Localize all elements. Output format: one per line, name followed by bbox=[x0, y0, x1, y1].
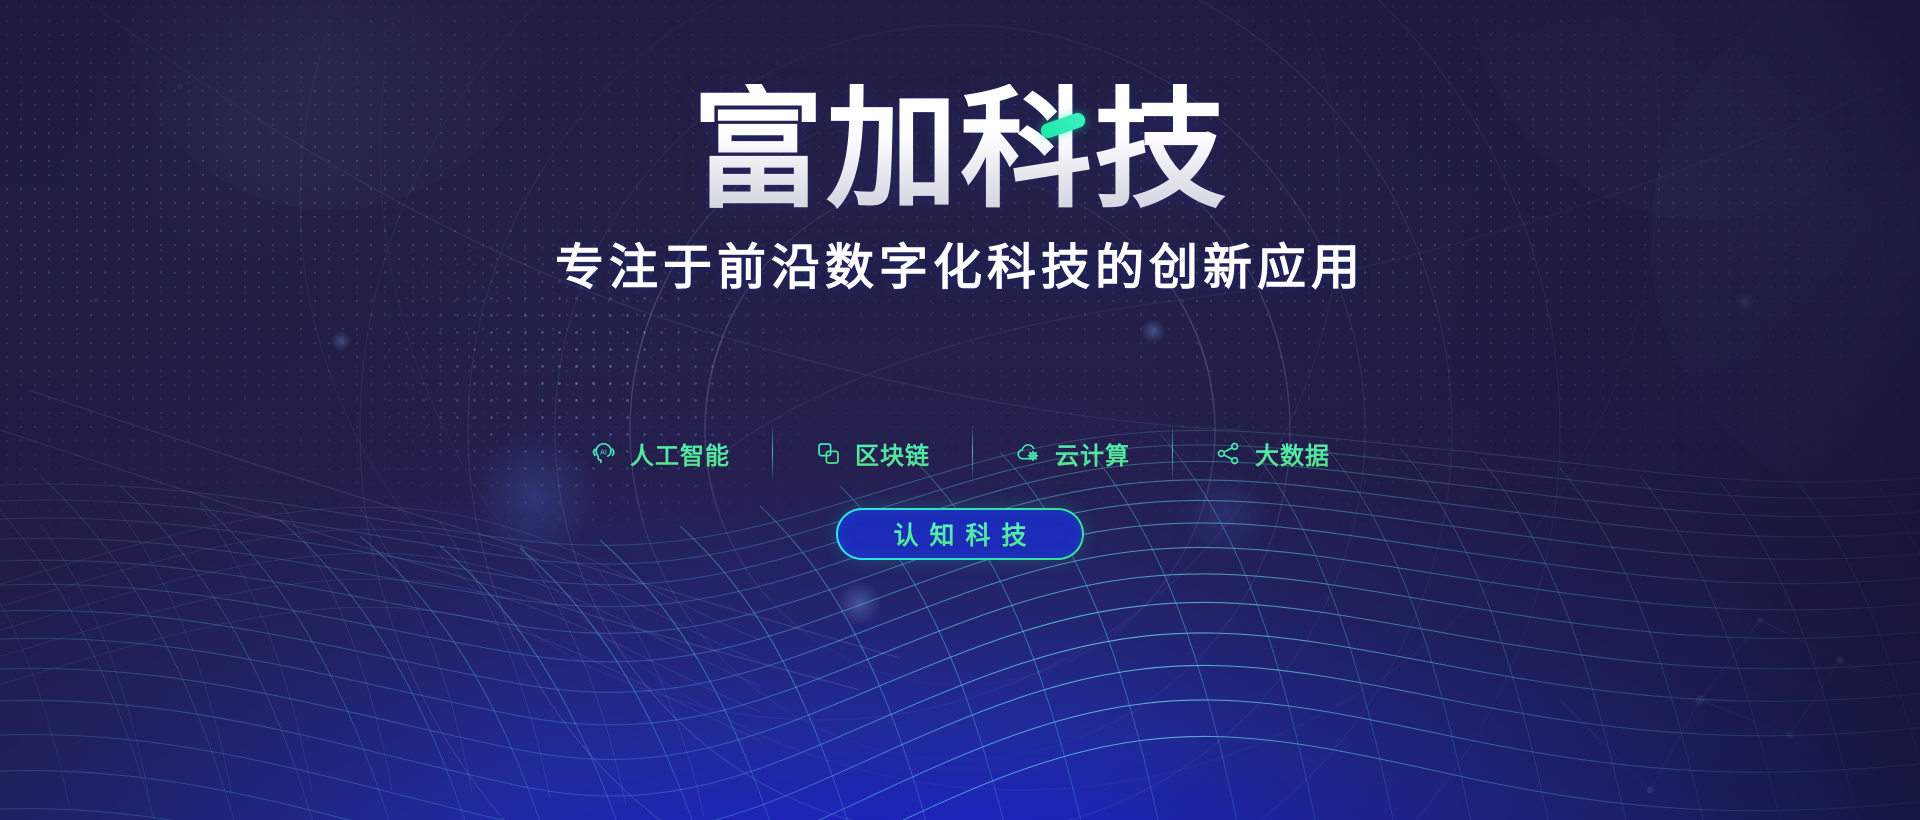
feature-tag-blockchain[interactable]: 区块链 bbox=[773, 436, 972, 471]
cta-container: 认知科技 bbox=[0, 508, 1920, 560]
cognitive-tech-button[interactable]: 认知科技 bbox=[836, 508, 1083, 560]
ai-head-icon: AI bbox=[590, 440, 617, 467]
cloud-gear-icon bbox=[1015, 440, 1042, 467]
share-nodes-icon bbox=[1215, 440, 1242, 467]
feature-tag-label: 区块链 bbox=[855, 436, 930, 471]
hero-subtitle: 专注于前沿数字化科技的创新应用 bbox=[0, 238, 1920, 299]
blockchain-squares-icon bbox=[815, 440, 842, 467]
feature-tag-cloud[interactable]: 云计算 bbox=[973, 436, 1172, 471]
feature-tag-label: 云计算 bbox=[1055, 436, 1130, 471]
feature-tag-ai[interactable]: AI 人工智能 bbox=[548, 436, 772, 471]
hero-content: 富加科技 专注于前沿数字化科技的创新应用 AI 人工智能 bbox=[0, 0, 1920, 820]
hero-banner: 富加科技 专注于前沿数字化科技的创新应用 AI 人工智能 bbox=[0, 0, 1920, 820]
brand-title: 富加科技 bbox=[0, 84, 1920, 216]
feature-tag-list: AI 人工智能 区块链 bbox=[0, 424, 1920, 482]
feature-tag-bigdata[interactable]: 大数据 bbox=[1173, 436, 1372, 471]
cta-label: 认知科技 bbox=[882, 516, 1037, 552]
svg-text:AI: AI bbox=[600, 448, 607, 456]
feature-tag-label: 大数据 bbox=[1255, 436, 1330, 471]
feature-tag-label: 人工智能 bbox=[630, 436, 730, 471]
